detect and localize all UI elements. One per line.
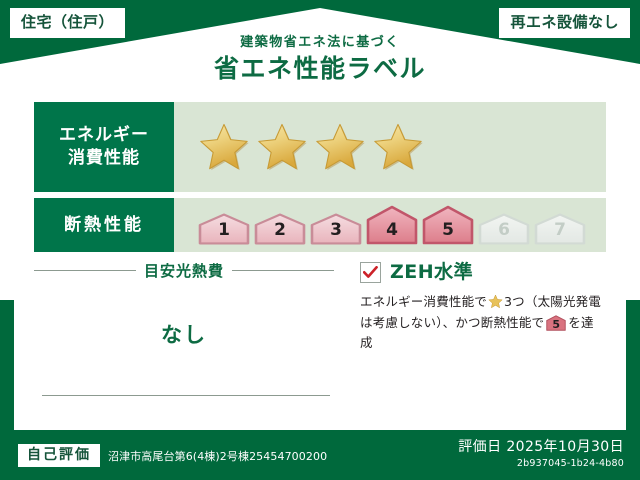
insulation-grade-value: 6 [498, 222, 510, 245]
insulation-performance-value: 1234567 [174, 198, 606, 252]
zeh-desc-stars: 3つ（太陽光発電 [504, 294, 601, 309]
insulation-grade-6: 6 [478, 213, 530, 245]
renewable-equipment-tag: 再エネ設備なし [499, 8, 630, 38]
insulation-grade-value: 5 [442, 222, 454, 245]
insulation-performance-row: 断熱性能 1234567 [34, 198, 606, 252]
footer-right-group: 評価日 2025年10月30日 2b937045-1b24-4b80 [458, 439, 624, 470]
heading-rule-left [34, 270, 136, 271]
insulation-grade-2: 2 [254, 213, 306, 245]
footer-left-group: 自己評価 沼津市高尾台第6(4棟)2号棟25454700200 [18, 444, 327, 467]
energy-label-line2: 消費性能 [68, 147, 140, 170]
insulation-performance-label-box: 断熱性能 [34, 198, 174, 252]
utility-cost-underline [42, 395, 330, 396]
energy-performance-value [174, 102, 606, 192]
insulation-grade-7: 7 [534, 213, 586, 245]
insulation-grade-value: 4 [386, 222, 398, 245]
title-subtitle: 建築物省エネ法に基づく [0, 36, 640, 50]
utility-cost-pane: 目安光熱費 なし [34, 258, 334, 418]
evaluation-date: 評価日 2025年10月30日 [458, 439, 624, 457]
insulation-grade-value: 1 [218, 222, 230, 245]
star-icon [372, 121, 424, 173]
utility-cost-heading-text: 目安光熱費 [144, 260, 224, 281]
evaluation-date-value: 2025年10月30日 [506, 439, 624, 455]
insulation-grade-scale: 1234567 [198, 205, 586, 245]
property-address: 沼津市高尾台第6(4棟)2号棟25454700200 [108, 448, 327, 464]
insulation-grade-1: 1 [198, 213, 250, 245]
star-icon [314, 121, 366, 173]
zeh-description: エネルギー消費性能で3つ（太陽光発電 は考慮しない）、かつ断熱性能で5を達成 [360, 292, 606, 354]
star-icon [198, 121, 250, 173]
check-icon [363, 266, 378, 279]
lower-info-area: 目安光熱費 なし ZEH水準 エネルギー消費性能で3つ（太陽光発電 [34, 258, 606, 418]
zeh-standard-pane: ZEH水準 エネルギー消費性能で3つ（太陽光発電 は考慮しない）、かつ断熱性能で… [334, 258, 606, 418]
heading-rule-right [232, 270, 334, 271]
utility-cost-heading: 目安光熱費 [34, 260, 334, 281]
energy-performance-row: エネルギー 消費性能 [34, 102, 606, 192]
zeh-desc-part1: エネルギー消費性能で [360, 294, 487, 309]
insulation-grade-value: 7 [554, 222, 566, 245]
evaluation-id: 2b937045-1b24-4b80 [458, 458, 624, 470]
label-content-card: エネルギー 消費性能 断熱性能 1234567 目安光熱費 なし [14, 92, 626, 430]
evaluation-date-label: 評価日 [458, 439, 501, 455]
insulation-grade-value: 3 [330, 222, 342, 245]
zeh-title-text: ZEH水準 [390, 263, 473, 282]
insulation-grade-5: 5 [422, 205, 474, 245]
insulation-grade-4: 4 [366, 205, 418, 245]
zeh-checkbox[interactable] [360, 262, 381, 283]
zeh-desc-part2: は考慮しない）、かつ断熱性能で [360, 315, 544, 330]
zeh-title-row: ZEH水準 [360, 262, 606, 283]
insulation-grade-value: 2 [274, 222, 286, 245]
star-icon [488, 294, 503, 309]
insulation-grade-3: 3 [310, 213, 362, 245]
label-title-block: 建築物省エネ法に基づく 省エネ性能ラベル [0, 36, 640, 85]
inline-grade-value: 5 [546, 319, 566, 330]
energy-label-line1: エネルギー [59, 124, 149, 147]
energy-performance-label: 住宅（住戸） 再エネ設備なし 建築物省エネ法に基づく 省エネ性能ラベル エネルギ… [0, 0, 640, 480]
building-type-tag: 住宅（住戸） [10, 8, 125, 38]
star-rating [198, 121, 424, 173]
page-title: 省エネ性能ラベル [0, 53, 640, 84]
self-evaluation-tag: 自己評価 [18, 444, 100, 467]
star-icon [256, 121, 308, 173]
inline-grade-badge: 5 [546, 315, 566, 331]
utility-cost-value: なし [34, 319, 334, 349]
energy-performance-label-box: エネルギー 消費性能 [34, 102, 174, 192]
